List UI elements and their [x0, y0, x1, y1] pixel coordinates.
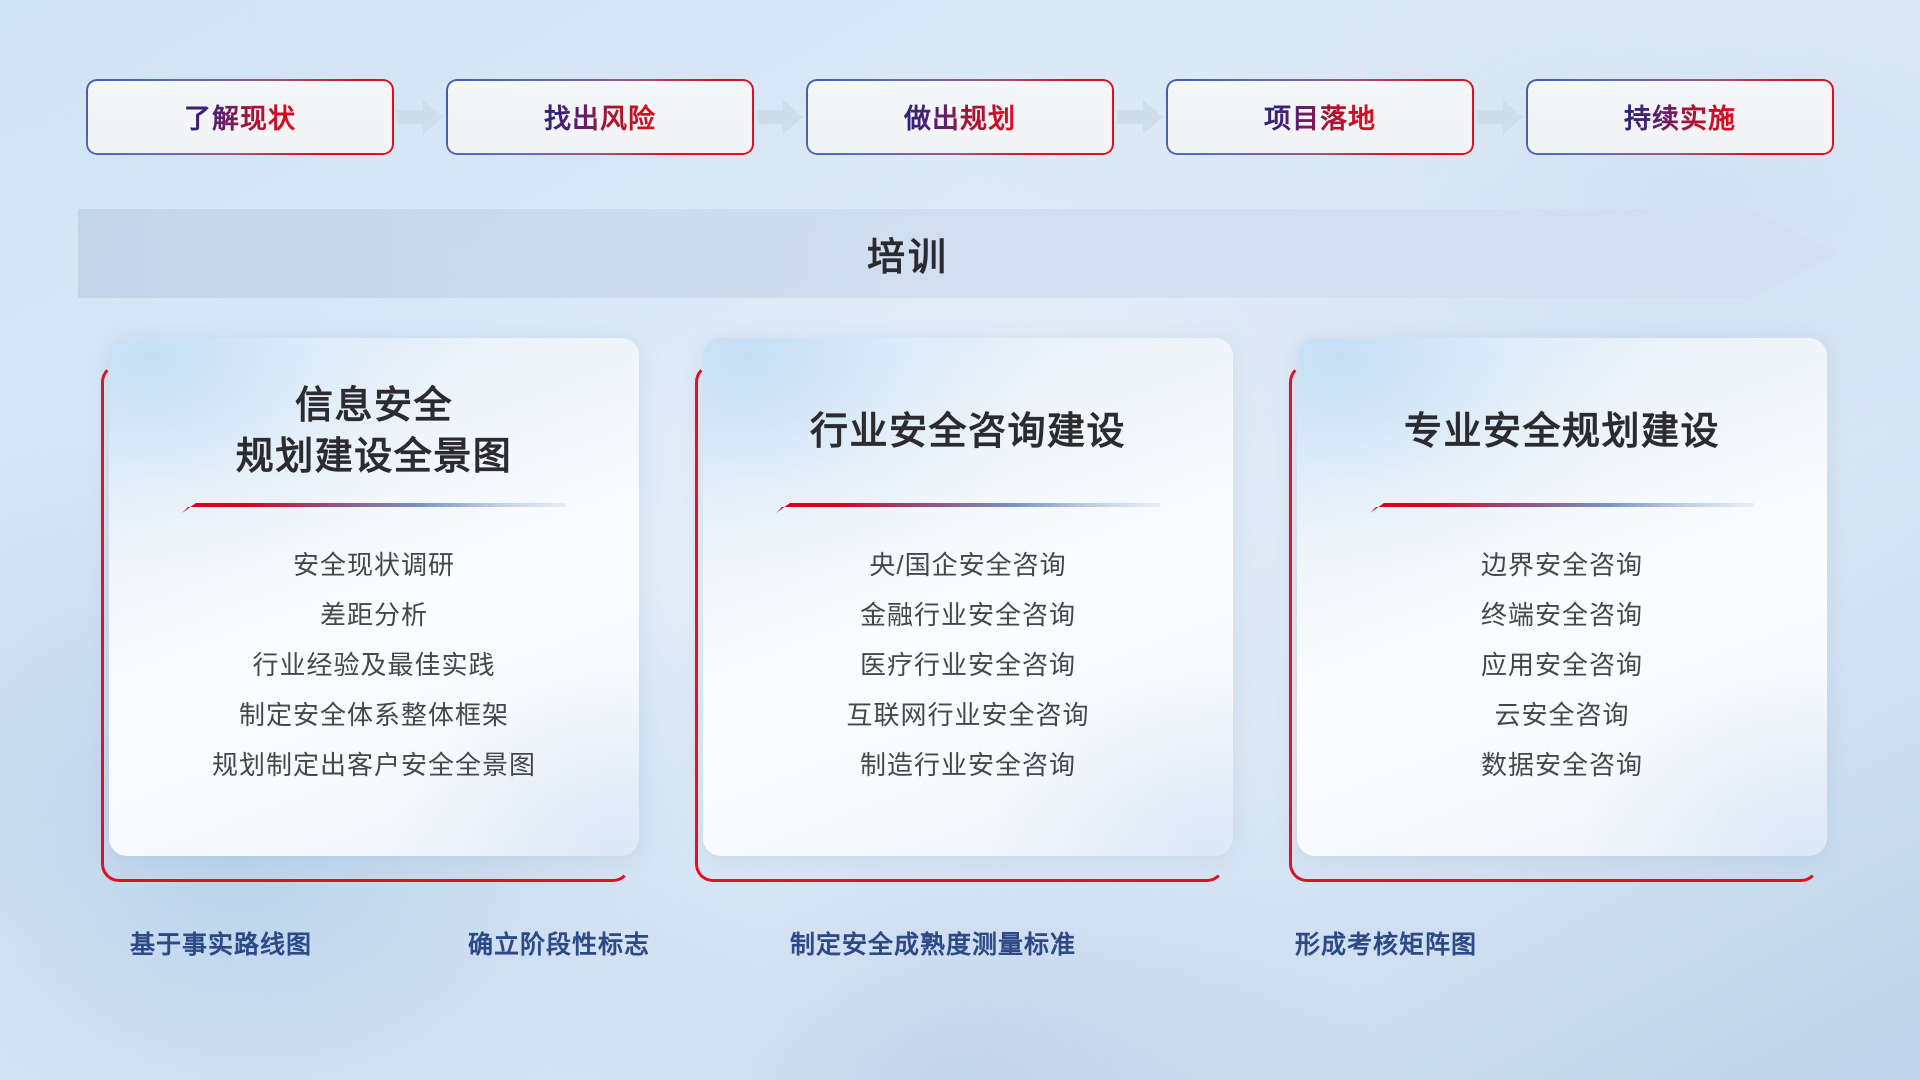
card-body: 信息安全 规划建设全景图 [109, 338, 639, 856]
step-item-4[interactable]: 持续实施 [1528, 81, 1832, 153]
footer-label-1: 确立阶段性标志 [468, 925, 650, 961]
list-item: 金融行业安全咨询 [727, 590, 1209, 640]
list-item: 安全现状调研 [133, 540, 615, 590]
card-title: 专业安全规划建设 [1321, 380, 1803, 484]
card-title-line: 规划建设全景图 [133, 432, 615, 483]
card-1[interactable]: 行业安全咨询建设 [695, 338, 1225, 882]
arrow-right-icon [392, 79, 448, 154]
card-title: 行业安全咨询建设 [727, 380, 1209, 484]
card-item-list: 安全现状调研 差距分析 行业经验及最佳实践 制定安全体系整体框架 规划制定出客户… [133, 540, 615, 790]
step-label: 了解现状 [184, 97, 296, 136]
list-item: 云安全咨询 [1321, 690, 1803, 740]
list-item: 制造行业安全咨询 [727, 740, 1209, 790]
arrow-right-icon [1472, 79, 1528, 154]
arrow-right-icon [752, 79, 808, 154]
footer-label-3: 形成考核矩阵图 [1295, 925, 1477, 961]
card-item-list: 边界安全咨询 终端安全咨询 应用安全咨询 云安全咨询 数据安全咨询 [1321, 540, 1803, 790]
banner-label: 培训 [78, 209, 1738, 298]
step-item-1[interactable]: 找出风险 [448, 81, 752, 153]
list-item: 边界安全咨询 [1321, 540, 1803, 590]
card-body: 行业安全咨询建设 [703, 338, 1233, 856]
step-label: 持续实施 [1624, 97, 1736, 136]
gradient-divider-icon [182, 500, 566, 514]
list-item: 终端安全咨询 [1321, 590, 1803, 640]
list-item: 数据安全咨询 [1321, 740, 1803, 790]
step-item-2[interactable]: 做出规划 [808, 81, 1112, 153]
footer-label-0: 基于事实路线图 [130, 925, 312, 961]
training-banner: 培训 [78, 209, 1838, 298]
list-item: 央/国企安全咨询 [727, 540, 1209, 590]
card-title-line: 信息安全 [133, 381, 615, 432]
step-item-0[interactable]: 了解现状 [88, 81, 392, 153]
footer-labels-row: 基于事实路线图 确立阶段性标志 制定安全成熟度测量标准 形成考核矩阵图 [0, 925, 1920, 965]
card-body: 专业安全规划建设 [1297, 338, 1827, 856]
card-item-list: 央/国企安全咨询 金融行业安全咨询 医疗行业安全咨询 互联网行业安全咨询 制造行… [727, 540, 1209, 790]
list-item: 行业经验及最佳实践 [133, 640, 615, 690]
step-item-3[interactable]: 项目落地 [1168, 81, 1472, 153]
card-2[interactable]: 专业安全规划建设 [1289, 338, 1819, 882]
list-item: 规划制定出客户安全全景图 [133, 740, 615, 790]
list-item: 差距分析 [133, 590, 615, 640]
card-title-line: 专业安全规划建设 [1321, 407, 1803, 458]
card-title-line: 行业安全咨询建设 [727, 407, 1209, 458]
arrow-right-icon [1112, 79, 1168, 154]
list-item: 应用安全咨询 [1321, 640, 1803, 690]
list-item: 医疗行业安全咨询 [727, 640, 1209, 690]
step-label: 找出风险 [544, 97, 656, 136]
step-label: 做出规划 [904, 97, 1016, 136]
list-item: 制定安全体系整体框架 [133, 690, 615, 740]
gradient-divider-icon [1370, 500, 1754, 514]
process-steps-row: 了解现状 找出风险 做出规划 项目落地 持续实施 [0, 79, 1920, 154]
gradient-divider-icon [776, 500, 1160, 514]
step-label: 项目落地 [1264, 97, 1376, 136]
card-0[interactable]: 信息安全 规划建设全景图 [101, 338, 631, 882]
list-item: 互联网行业安全咨询 [727, 690, 1209, 740]
card-title: 信息安全 规划建设全景图 [133, 380, 615, 484]
footer-label-2: 制定安全成熟度测量标准 [790, 925, 1076, 961]
cards-row: 信息安全 规划建设全景图 [0, 338, 1920, 882]
